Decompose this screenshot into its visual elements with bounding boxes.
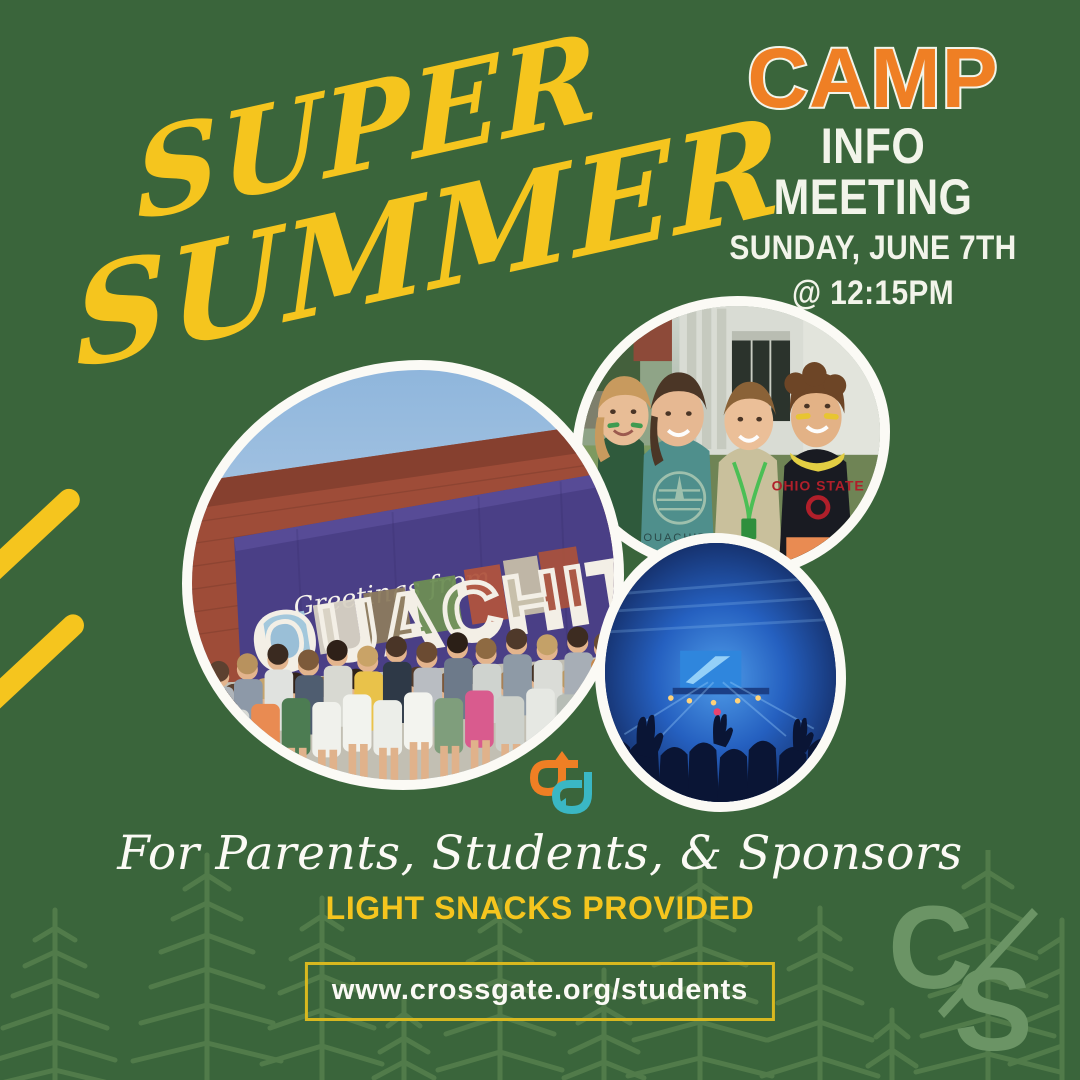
photo-inner: [605, 543, 836, 802]
event-header: CAMP INFO MEETING SUNDAY, JUNE 7TH @ 12:…: [708, 40, 1038, 313]
photo-group-at-ouachita-mural: Greetings from OUACHITA: [182, 360, 624, 790]
snacks-note: LIGHT SNACKS PROVIDED: [0, 890, 1080, 927]
website-url-text: www.crossgate.org/students: [332, 974, 748, 1006]
photo-inner: Greetings from OUACHITA: [192, 370, 614, 780]
poster-canvas: C S SUPER SUMMER CAMP INFO MEETING SUNDA…: [0, 0, 1080, 1080]
photo-inner: OUACHITA: [582, 306, 880, 568]
camp-heading: CAMP: [708, 40, 1038, 117]
svg-text:S: S: [954, 944, 1033, 1070]
decorative-stripe-upper: [0, 484, 84, 615]
title-line-super: SUPER: [133, 16, 602, 238]
event-date: SUNDAY, JUNE 7TH: [728, 229, 1018, 268]
super-summer-s-logo: [526, 748, 606, 826]
decorative-stripe-lower: [0, 610, 89, 735]
photo-worship-concert-crowd: [595, 533, 846, 812]
super-summer-title: SUPER SUMMER: [52, 46, 672, 346]
audience-tagline: For Parents, Students, & Sponsors: [0, 826, 1080, 881]
svg-text:OHIO STATE: OHIO STATE: [772, 477, 865, 493]
website-url-button[interactable]: www.crossgate.org/students: [305, 962, 775, 1021]
info-meeting-heading: INFO MEETING: [731, 121, 1015, 223]
